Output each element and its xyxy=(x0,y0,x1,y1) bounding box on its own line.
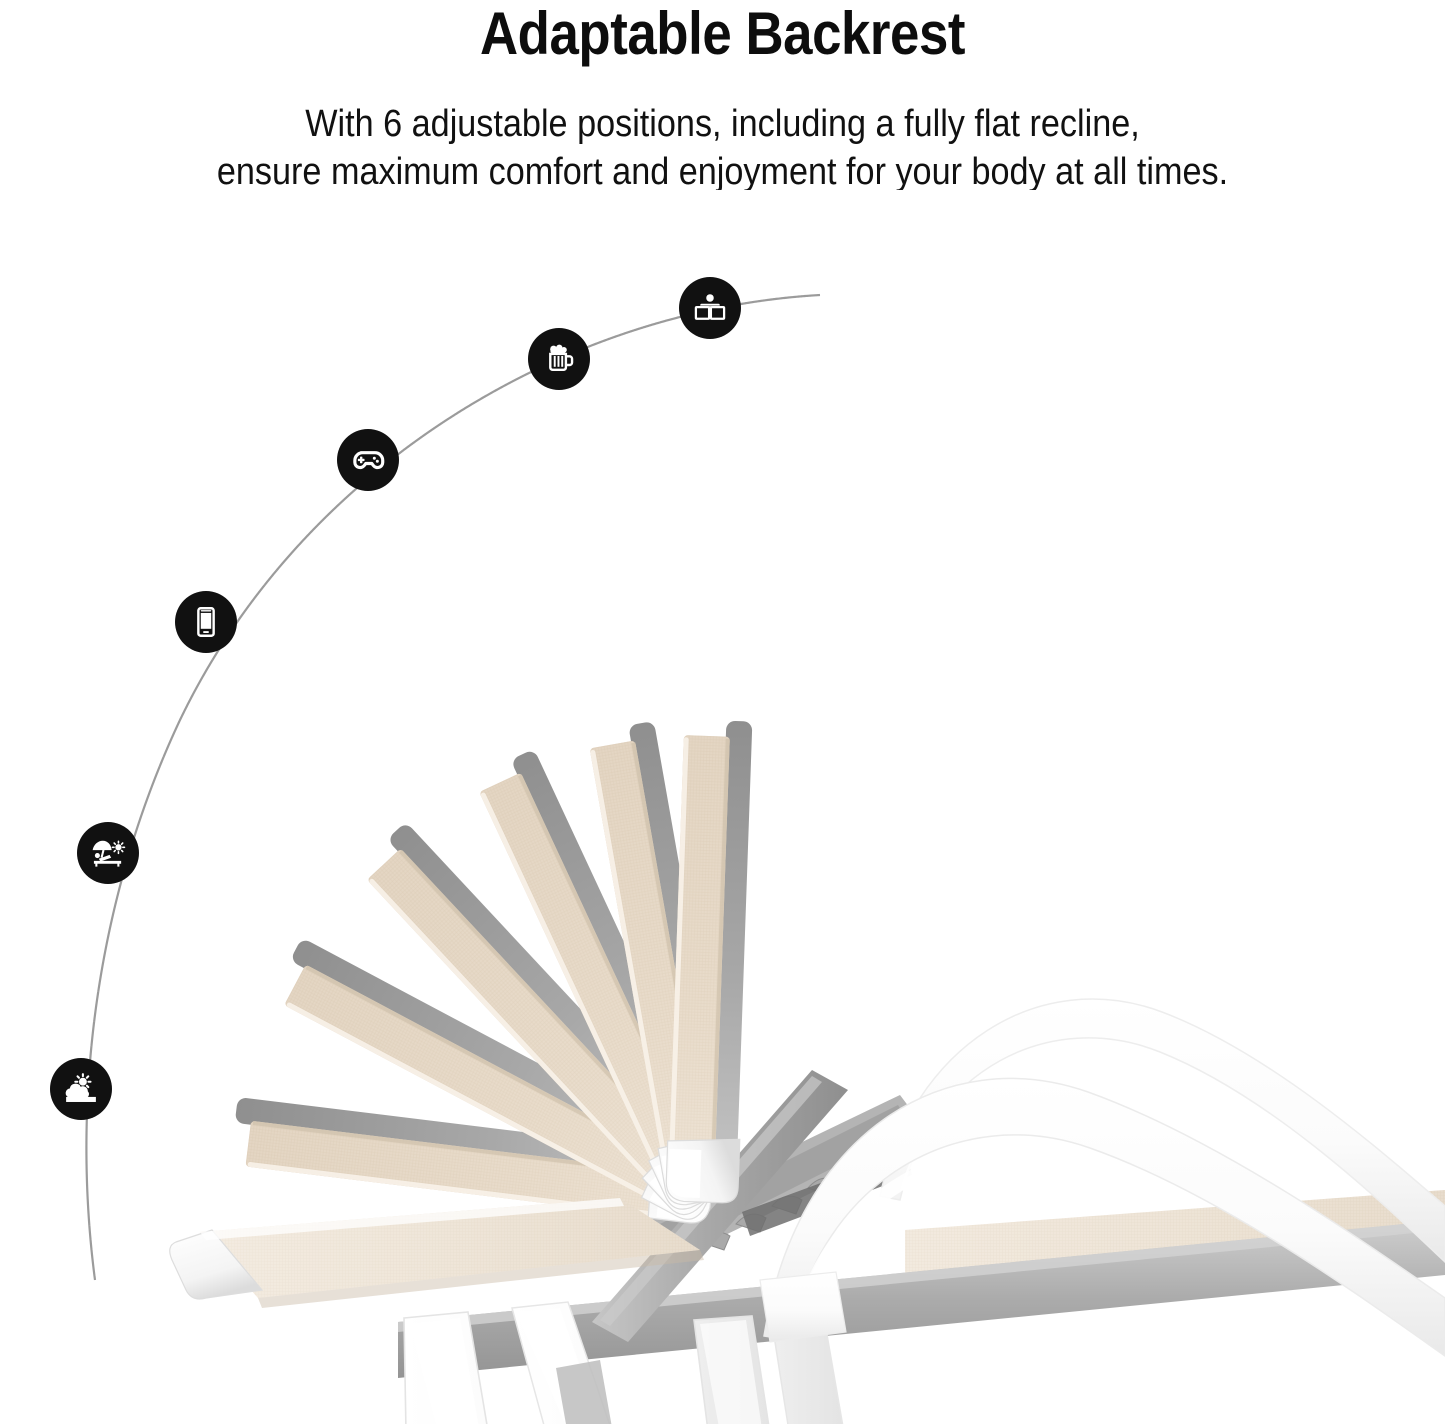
beer-mug-icon xyxy=(541,341,577,377)
header: Adaptable Backrest With 6 adjustable pos… xyxy=(0,0,1445,197)
gamepad-icon xyxy=(349,441,387,479)
badge-reading[interactable] xyxy=(679,277,741,339)
badge-drinking[interactable] xyxy=(528,328,590,390)
sun-cloud-icon xyxy=(62,1070,100,1108)
badge-relaxing[interactable] xyxy=(50,1058,112,1120)
page-title: Adaptable Backrest xyxy=(87,0,1359,66)
badge-gaming[interactable] xyxy=(337,429,399,491)
infographic-page: Adaptable Backrest With 6 adjustable pos… xyxy=(0,0,1445,1424)
chaise-lounge-illustration xyxy=(0,190,1445,1424)
product-illustration xyxy=(0,190,1445,1424)
rail-connector-block xyxy=(760,1272,846,1342)
smartphone-icon xyxy=(189,605,223,639)
badge-sunbathing[interactable] xyxy=(77,822,139,884)
book-reader-icon xyxy=(692,290,728,326)
sun-lounger-icon xyxy=(89,834,127,872)
badge-phone[interactable] xyxy=(175,591,237,653)
page-subtitle: With 6 adjustable positions, including a… xyxy=(72,66,1373,197)
